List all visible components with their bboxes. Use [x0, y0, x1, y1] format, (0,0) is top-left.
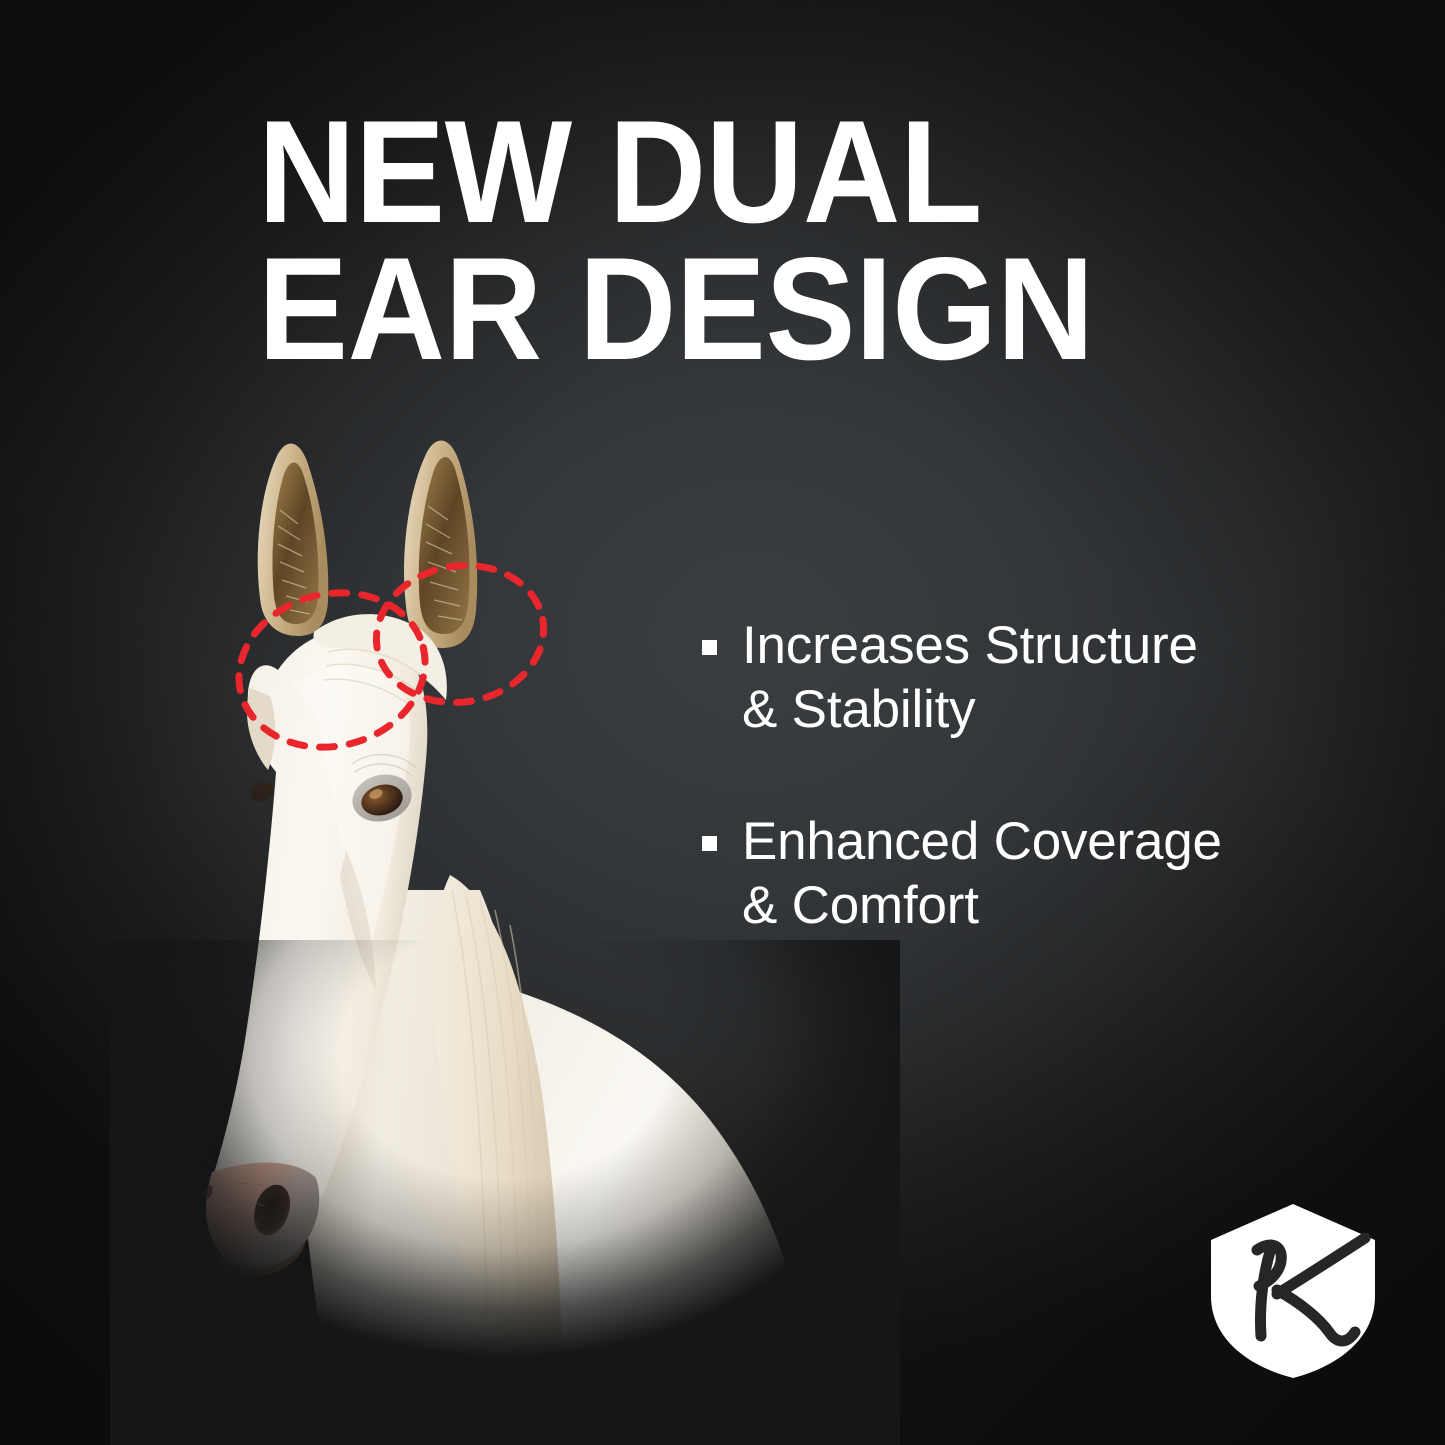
brand-logo — [1207, 1202, 1379, 1380]
horse-ear-left — [258, 444, 329, 636]
headline-line-1: NEW DUAL — [258, 103, 1128, 240]
feature-line-2: & Comfort — [742, 874, 1360, 938]
bullet-square-icon — [702, 836, 717, 851]
horse-eye-far — [248, 780, 276, 805]
page-title: NEW DUAL EAR DESIGN — [258, 103, 1128, 377]
feature-list: Increases Structure & Stability Enhanced… — [700, 614, 1360, 938]
shield-badge-icon — [1207, 1202, 1379, 1380]
feature-line-1: Enhanced Coverage — [742, 810, 1360, 874]
headline-line-2: EAR DESIGN — [258, 240, 1128, 377]
list-item: Enhanced Coverage & Comfort — [700, 810, 1360, 938]
shield-shape — [1211, 1204, 1375, 1378]
horse-ear-right — [404, 441, 477, 648]
bullet-square-icon — [702, 640, 717, 655]
feature-line-1: Increases Structure — [742, 614, 1360, 678]
promo-image-canvas: NEW DUAL EAR DESIGN — [0, 0, 1445, 1445]
list-item: Increases Structure & Stability — [700, 614, 1360, 742]
feature-line-2: & Stability — [742, 678, 1360, 742]
